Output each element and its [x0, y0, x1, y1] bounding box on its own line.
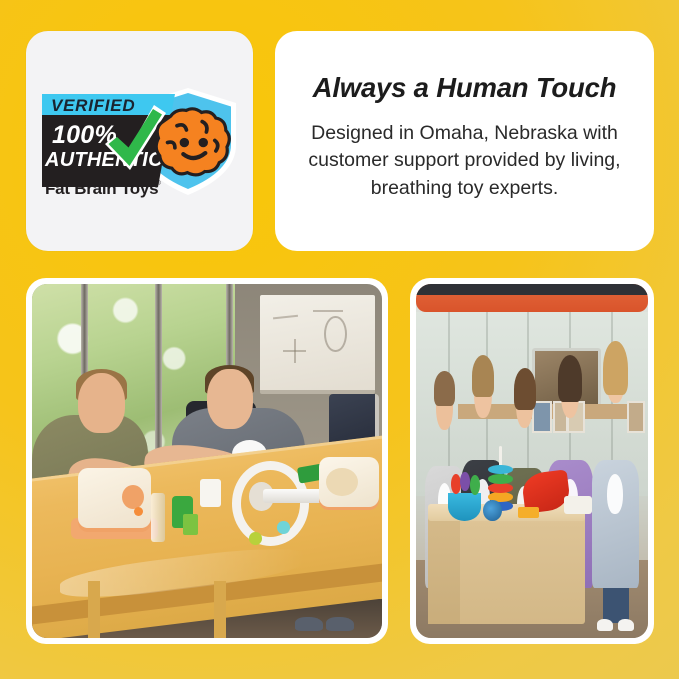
whiteboard [260, 295, 376, 395]
toy-hole [326, 468, 358, 496]
toy-ball [470, 475, 480, 495]
photo-designers-testing-toys [32, 284, 382, 638]
badge-authentic-text: AUTHENTIC [44, 149, 163, 171]
hair [603, 341, 627, 396]
toy-hole [122, 485, 144, 509]
brain-logo-on-shirt [607, 474, 623, 514]
toy-clear-tube [151, 493, 165, 543]
page-title: Always a Human Touch [313, 73, 617, 103]
table-leg [88, 581, 100, 638]
badge-verified-text: VERIFIED [51, 96, 135, 115]
photo-row [26, 278, 654, 644]
fat-brain-toys-brand-poster: VERIFIED 100% AUTHENTIC [0, 0, 679, 679]
top-row: VERIFIED 100% AUTHENTIC [26, 31, 654, 251]
toy-ball [460, 472, 470, 492]
person-right-head [207, 369, 253, 429]
display-desk-side [428, 507, 460, 624]
stacker-ring [488, 474, 514, 484]
toy-prototype-box [78, 468, 152, 528]
photo-customer-support-team [416, 284, 648, 638]
toy-ball-green [249, 532, 262, 545]
toy-ball [451, 474, 461, 494]
hair [434, 371, 454, 406]
message-card: Always a Human Touch Designed in Omaha, … [275, 31, 654, 251]
sneaker [597, 619, 613, 631]
toy-white-cup [200, 479, 221, 507]
whiteboard-mark [283, 350, 306, 352]
verified-authentic-badge-card: VERIFIED 100% AUTHENTIC [26, 31, 253, 251]
shoe [326, 617, 354, 631]
hair [558, 355, 582, 402]
fat-brain-toys-verified-authentic-badge: VERIFIED 100% AUTHENTIC [40, 81, 240, 201]
stacker-ring [488, 465, 514, 475]
hair [514, 368, 536, 410]
toy-white-tray [564, 496, 592, 514]
whiteboard-mark [273, 314, 298, 319]
sneaker [618, 619, 634, 631]
toy-ball-orange [134, 507, 143, 516]
badge-graphic: VERIFIED 100% AUTHENTIC [40, 81, 240, 201]
toy-ball-cyan [277, 521, 290, 534]
toy-green-cup [183, 514, 199, 535]
photo-designers-testing-toys-frame [26, 278, 388, 644]
stacker-ring [488, 483, 514, 493]
brain-icon [157, 110, 227, 173]
office-scene [32, 284, 382, 638]
photo-customer-support-team-frame [410, 278, 654, 644]
whiteboard-mark [324, 316, 346, 352]
badge-trademark-symbol: ® [156, 179, 161, 187]
table-leg [214, 581, 226, 638]
toy-yellow-pieces [518, 507, 539, 518]
hair [472, 355, 494, 397]
team-member [590, 341, 641, 589]
whiteboard-mark [313, 310, 343, 312]
toy-spinner [483, 500, 502, 521]
page-subtitle: Designed in Omaha, Nebraska with custome… [301, 120, 628, 203]
showroom-scene [416, 284, 648, 638]
person-left-head [78, 373, 125, 433]
ceiling-edge [416, 284, 648, 295]
badge-brand-wordmark: Fat Brain Toys [45, 179, 158, 198]
shoe [295, 617, 323, 631]
toy-ball-cluster [451, 472, 481, 500]
